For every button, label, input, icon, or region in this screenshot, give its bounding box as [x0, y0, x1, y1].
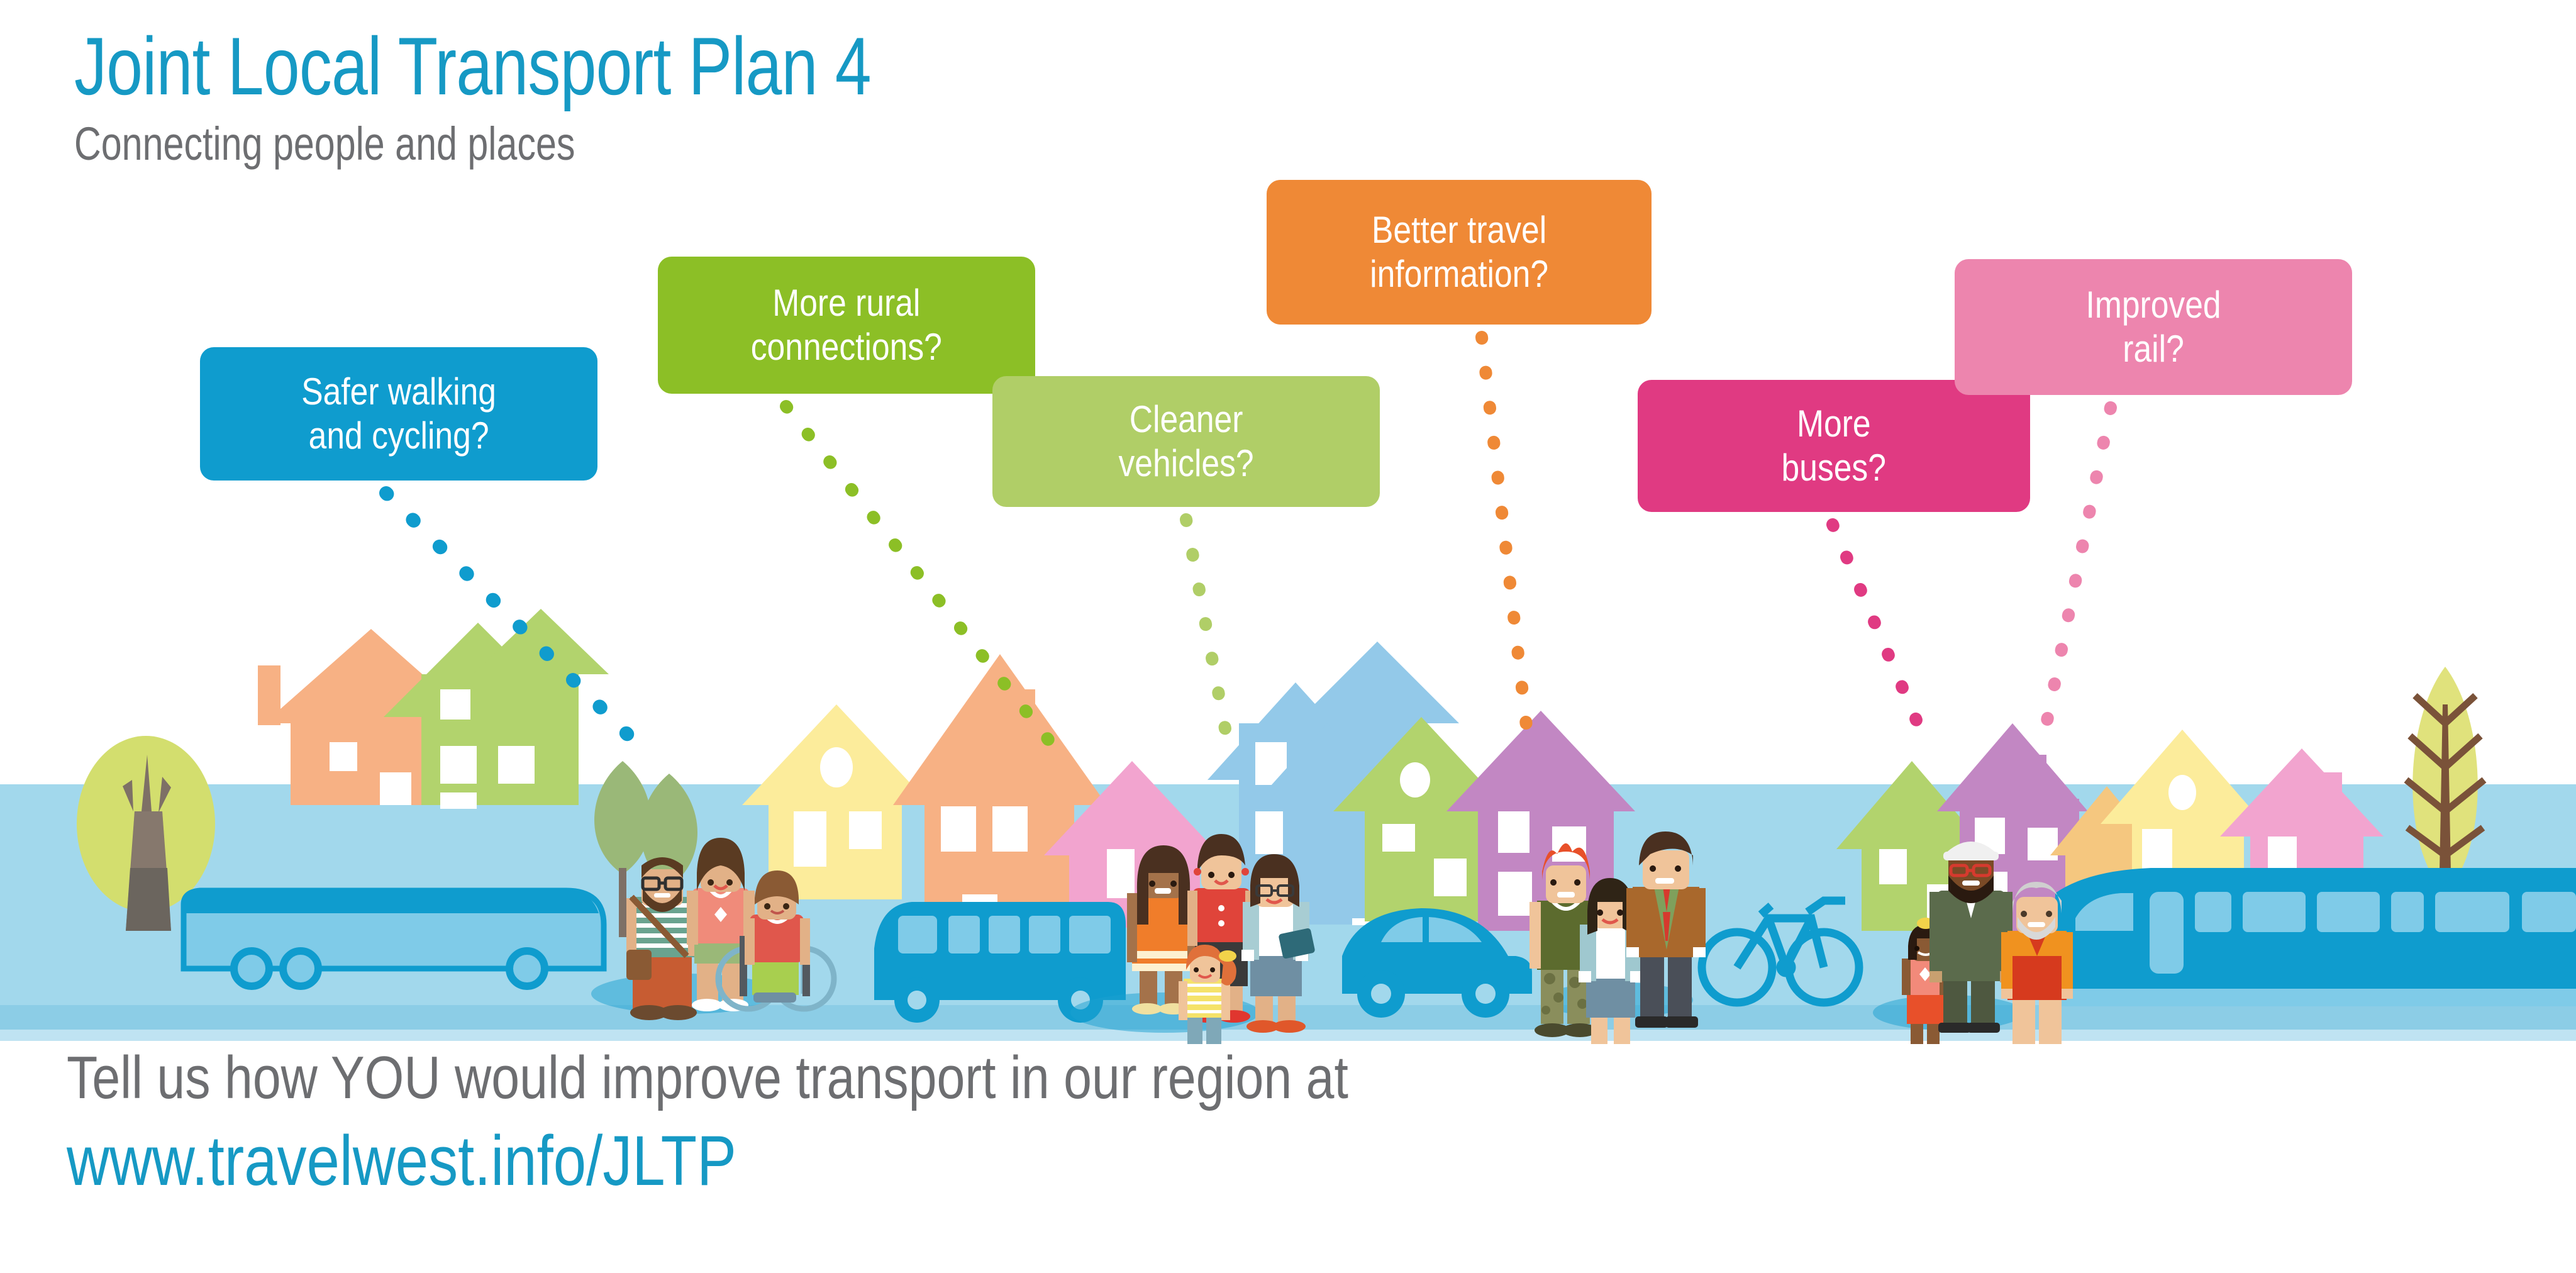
bubble-line-2: connections?	[751, 325, 942, 369]
footer: Tell us how YOU would improve transport …	[67, 1048, 2519, 1196]
bubble-line-1: Better travel	[1370, 208, 1548, 252]
bubble-better-travel-information[interactable]: Better travel information?	[1267, 180, 1652, 325]
page-subtitle: Connecting people and places	[74, 121, 1382, 167]
poster-canvas: Joint Local Transport Plan 4 Connecting …	[0, 0, 2576, 1273]
bubble-line-1: Cleaner	[1118, 397, 1253, 442]
call-to-action-text: Tell us how YOU would improve transport …	[67, 1048, 2127, 1108]
bubble-line-2: buses?	[1782, 446, 1886, 490]
header: Joint Local Transport Plan 4 Connecting …	[74, 25, 1709, 167]
bubble-cleaner-vehicles[interactable]: Cleaner vehicles?	[992, 376, 1380, 507]
train	[2054, 868, 2576, 1006]
bubble-line-2: vehicles?	[1118, 442, 1253, 486]
bubble-line-1: Improved	[2085, 283, 2221, 327]
bicycle	[1702, 901, 1859, 1003]
website-url[interactable]: www.travelwest.info/JLTP	[67, 1126, 2127, 1196]
bubble-line-2: and cycling?	[301, 414, 496, 458]
street-scene-illustration	[0, 516, 2576, 1044]
bubble-safer-walking-cycling[interactable]: Safer walking and cycling?	[200, 347, 597, 481]
bubble-line-1: More	[1782, 402, 1886, 446]
coach-bus	[184, 891, 604, 986]
bubble-more-buses[interactable]: More buses?	[1638, 380, 2030, 512]
bubble-line-2: information?	[1370, 252, 1548, 296]
bubble-line-1: More rural	[751, 281, 942, 325]
bubble-line-2: rail?	[2085, 327, 2221, 371]
page-title: Joint Local Transport Plan 4	[74, 25, 1382, 107]
bubble-improved-rail[interactable]: Improved rail?	[1955, 259, 2352, 395]
bubble-line-1: Safer walking	[301, 370, 496, 414]
bubble-more-rural-connections[interactable]: More rural connections?	[658, 257, 1035, 394]
